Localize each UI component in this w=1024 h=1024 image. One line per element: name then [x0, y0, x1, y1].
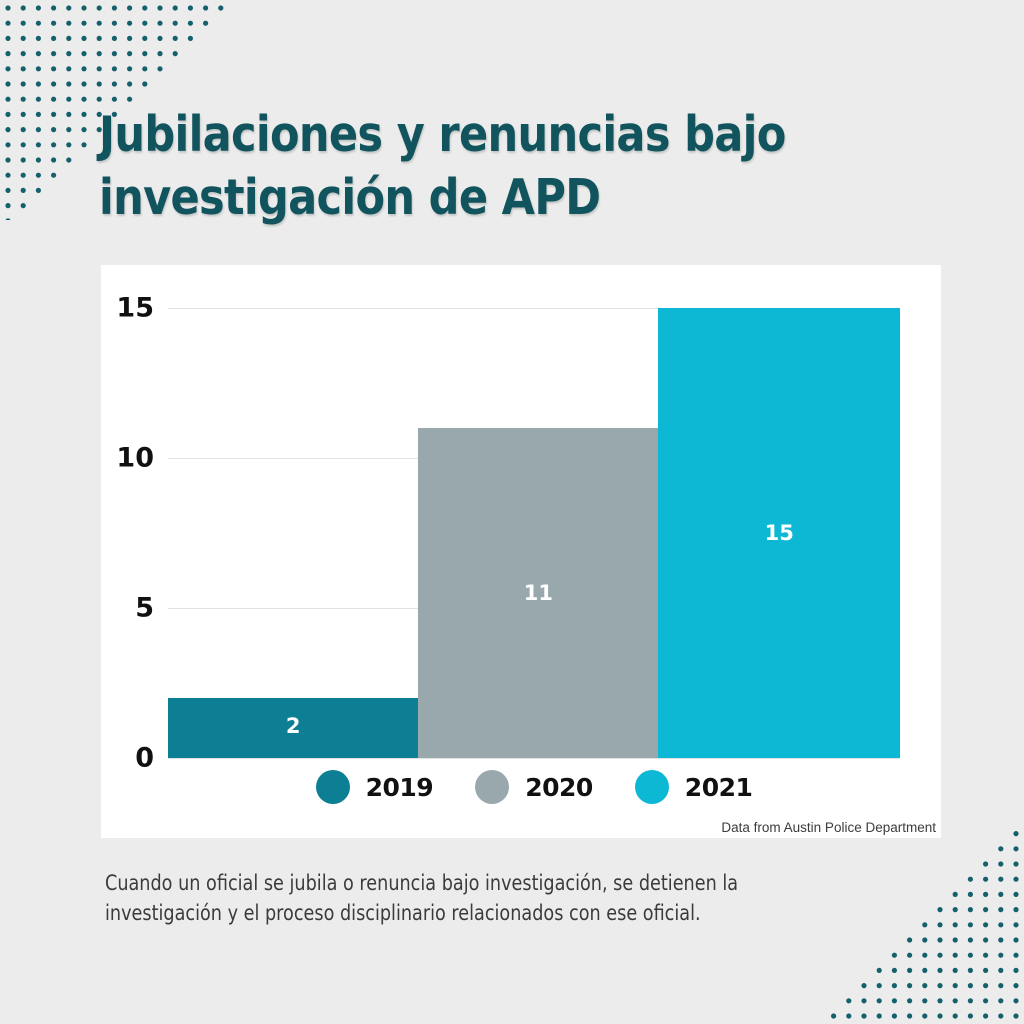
decorative-dots-bottom-right [784, 824, 1024, 1024]
legend-swatch-circle-icon [475, 770, 509, 804]
legend-swatch-circle-icon [635, 770, 669, 804]
y-axis-tick-label: 5 [135, 592, 154, 623]
bar-value-label: 11 [524, 581, 553, 605]
bar-value-label: 2 [286, 714, 301, 738]
legend-item-2019[interactable]: 2019 [316, 770, 434, 804]
bar-2019[interactable]: 2 [168, 698, 418, 758]
legend-swatch-circle-icon [316, 770, 350, 804]
gridline [168, 758, 900, 759]
legend-label: 2019 [366, 773, 434, 802]
bar-2020[interactable]: 11 [418, 428, 658, 758]
chart-legend: 201920202021 [168, 770, 900, 804]
y-axis-tick-label: 10 [116, 442, 154, 473]
legend-item-2020[interactable]: 2020 [475, 770, 593, 804]
legend-label: 2020 [525, 773, 593, 802]
bar-series: 21115 [168, 308, 900, 758]
page-title: Jubilaciones y renuncias bajo investigac… [99, 104, 821, 229]
legend-label: 2021 [685, 773, 753, 802]
y-axis-tick-label: 0 [135, 743, 154, 774]
bar-2021[interactable]: 15 [658, 308, 900, 758]
legend-item-2021[interactable]: 2021 [635, 770, 753, 804]
y-axis-tick-label: 15 [116, 293, 154, 324]
bar-value-label: 15 [765, 521, 794, 545]
caption-text: Cuando un oficial se jubila o renuncia b… [105, 869, 815, 929]
source-attribution: Data from Austin Police Department [721, 820, 936, 835]
plot-area: 051015 21115 [168, 308, 900, 758]
chart-card: 051015 21115 201920202021 Data from Aust… [101, 265, 941, 838]
